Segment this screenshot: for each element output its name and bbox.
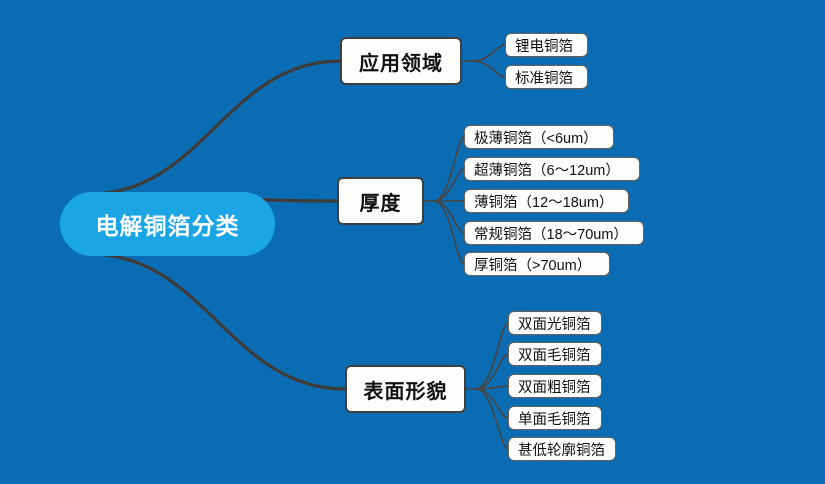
leaf-node-label: 极薄铜箔（<6um）: [474, 127, 598, 148]
leaf-node[interactable]: 双面毛铜箔: [508, 342, 602, 366]
mindmap-canvas: 电解铜箔分类 应用领域 锂电铜箔 标准铜箔 厚度 极薄铜箔（<6um） 超薄铜箔…: [0, 0, 825, 484]
root-node-label: 电解铜箔分类: [96, 207, 240, 241]
leaf-node[interactable]: 双面光铜箔: [508, 311, 602, 335]
leaf-node[interactable]: 厚铜箔（>70um）: [464, 252, 610, 276]
leaf-node[interactable]: 锂电铜箔: [505, 33, 588, 57]
leaf-node[interactable]: 标准铜箔: [505, 65, 588, 89]
leaf-node-label: 厚铜箔（>70um）: [474, 254, 591, 275]
leaf-node-label: 薄铜箔（12～18um）: [474, 191, 613, 212]
leaf-node-label: 双面粗铜箔: [518, 376, 591, 397]
branch-node-application[interactable]: 应用领域: [340, 37, 462, 85]
leaf-node-label: 甚低轮廓铜箔: [518, 439, 605, 460]
leaf-node[interactable]: 超薄铜箔（6～12um）: [464, 157, 640, 181]
leaf-node[interactable]: 单面毛铜箔: [508, 406, 602, 430]
leaf-node-label: 锂电铜箔: [515, 35, 573, 56]
branch-node-label: 表面形貌: [364, 375, 448, 404]
leaf-node-label: 标准铜箔: [515, 67, 573, 88]
root-node[interactable]: 电解铜箔分类: [60, 192, 275, 256]
leaf-node-label: 常规铜箔（18～70um）: [474, 223, 628, 244]
leaf-node[interactable]: 双面粗铜箔: [508, 374, 602, 398]
leaf-node-label: 超薄铜箔（6～12um）: [474, 159, 620, 180]
branch-node-label: 厚度: [360, 187, 402, 216]
leaf-node[interactable]: 极薄铜箔（<6um）: [464, 125, 614, 149]
leaf-node[interactable]: 薄铜箔（12～18um）: [464, 189, 629, 213]
branch-node-label: 应用领域: [359, 47, 443, 76]
leaf-node[interactable]: 常规铜箔（18～70um）: [464, 221, 644, 245]
leaf-node-label: 单面毛铜箔: [518, 408, 591, 429]
leaf-node-label: 双面光铜箔: [518, 313, 591, 334]
branch-node-surface-morphology[interactable]: 表面形貌: [345, 365, 466, 413]
leaf-node[interactable]: 甚低轮廓铜箔: [508, 437, 616, 461]
branch-node-thickness[interactable]: 厚度: [337, 177, 424, 225]
leaf-node-label: 双面毛铜箔: [518, 344, 591, 365]
